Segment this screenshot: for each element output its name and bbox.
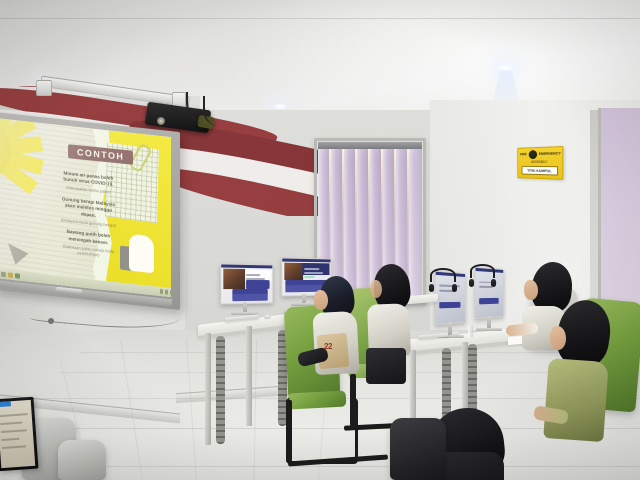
monitor-screen [221,265,272,304]
laptop-screen-edge[interactable] [0,397,38,472]
desk-leg [205,333,211,445]
chair-frame [286,398,358,464]
office-chair-black[interactable] [390,418,446,480]
face [550,326,566,350]
projector-lens-icon [157,117,165,125]
taskbar-icon[interactable] [15,273,20,279]
desktop-monitor[interactable] [220,263,273,305]
window-far-right [598,108,640,318]
lower-body [366,348,406,384]
sign-left-text: FIRE [520,153,527,157]
thumbs-up-icon [120,231,154,273]
ceiling-seam [0,18,640,19]
cable-management-spine [216,336,225,444]
sign-center-text: EMERGENCY [539,152,561,156]
laptop-titlebar [0,401,11,407]
visitor-chair-gray[interactable] [58,440,106,480]
headphones[interactable] [430,268,456,292]
webpage-cta-card[interactable] [479,298,499,305]
webpage-hero-image [285,263,304,281]
face [370,280,382,298]
upper-body [543,358,608,442]
fire-symbol-icon [529,150,537,159]
chair-base-bar [286,400,292,462]
wall-mount-knob [48,318,54,324]
taskbar-icon[interactable] [8,272,13,278]
slide-body: Minum air panas boleh bunuh virus COVID-… [57,170,119,267]
sign-box-text: TITIK KUMPUL [522,166,558,176]
projector-mount-bracket [36,80,52,96]
taskbar-tray-icon[interactable] [170,290,171,295]
webpage-hero-image [224,269,246,289]
classroom-photo: CONTOH Minum air panas boleh bunuh virus… [0,0,640,480]
projection-screen: CONTOH Minum air panas boleh bunuh virus… [0,118,171,297]
webpage-cta-card[interactable] [439,302,461,309]
slide-content: CONTOH Minum air panas boleh bunuh virus… [0,118,171,297]
taskbar-icon[interactable] [1,272,6,278]
mouse[interactable] [452,332,459,337]
taskbar-tray-icon[interactable] [160,289,163,294]
webpage-cta-card[interactable] [232,294,267,302]
face [524,280,538,300]
chair-base-bar [350,374,356,426]
emergency-safety-sign: FIRE EMERGENCY EXIT ASSEMBLY TITIK KUMPU… [517,146,563,180]
interactive-whiteboard[interactable]: CONTOH Minum air panas boleh bunuh virus… [0,112,180,310]
water-bottle[interactable] [468,325,473,338]
monitor-base [476,328,502,331]
laptop-display [0,400,35,468]
taskbar-tray-icon[interactable] [165,289,168,294]
mouse[interactable] [264,315,271,320]
face [314,290,328,310]
headphones[interactable] [470,264,495,287]
sign-subtitle: ASSEMBLY [518,160,562,164]
desk-leg [246,326,252,426]
